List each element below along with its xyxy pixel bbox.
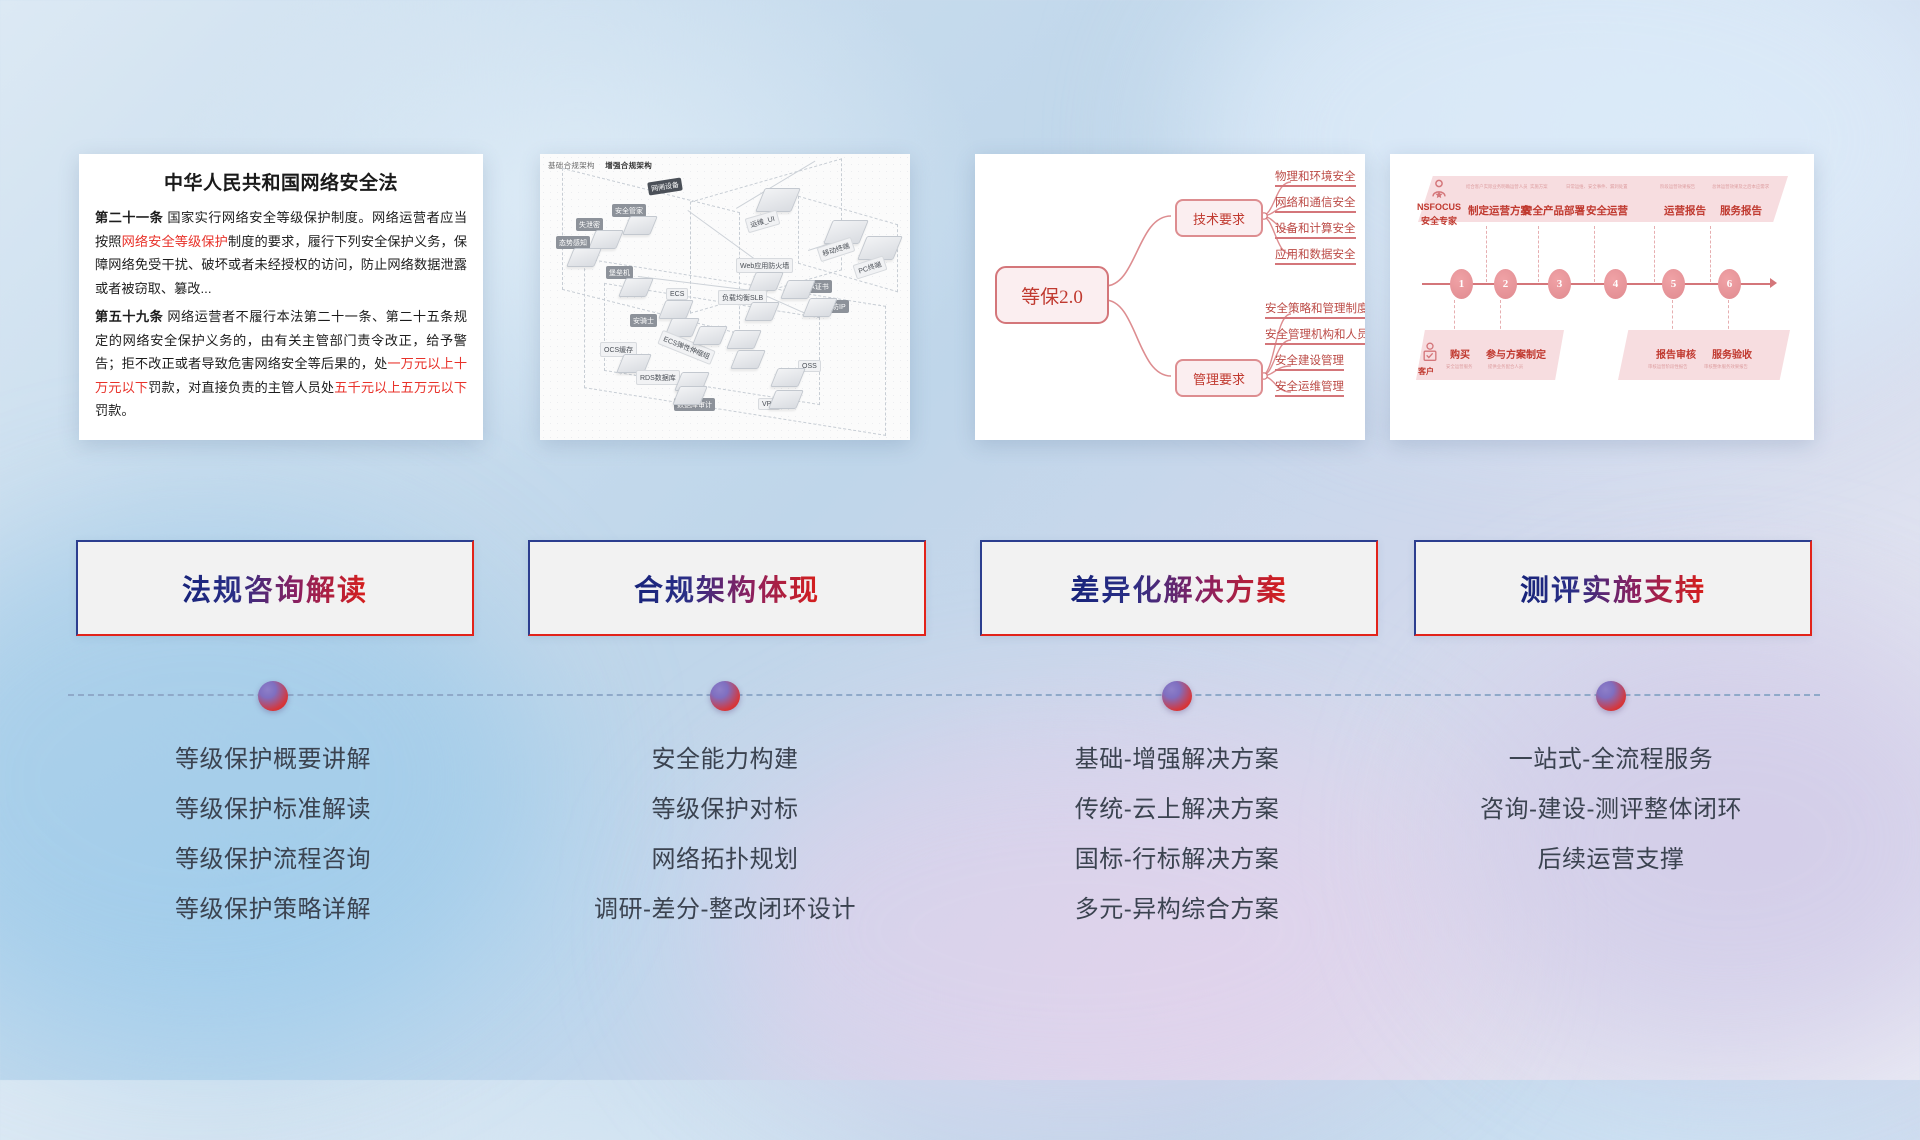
roadmap-step-number-3: 3 xyxy=(1548,269,1571,299)
bottom-step-2-sub: 提供业务配合人员 xyxy=(1488,364,1523,370)
list-item: 后续运营支撑 xyxy=(1414,835,1808,885)
pillar-title-2: 合规架构体现 xyxy=(634,567,820,609)
timeline-dashed-line xyxy=(68,694,1820,700)
tab-basic-architecture: 基础合规架构 xyxy=(548,161,595,170)
list-item: 等级保护对标 xyxy=(528,785,922,835)
article-59-highlight-2: 五千元以上五万元以下 xyxy=(334,380,467,395)
card-mindmap-dengbao: 等保2.0 技术要求 管理要求 物理和环境安全 网络和通信安全 设备和计算安全 … xyxy=(975,154,1365,440)
top-step-4-label: 运营报告 xyxy=(1664,203,1706,218)
list-item: 等级保护标准解读 xyxy=(76,785,470,835)
bottom-step-3-sub: 审核运营阶段性报告 xyxy=(1648,364,1688,370)
article-59-label: 第五十九条 xyxy=(95,309,163,324)
roadmap-step-number-6: 6 xyxy=(1718,269,1741,299)
expert-role-label: 安全专家 xyxy=(1421,214,1457,227)
pillar-title-4: 测评实施支持 xyxy=(1520,567,1706,609)
node-tag-rds: RDS数据库 xyxy=(636,370,680,385)
pillar-title-1: 法规咨询解读 xyxy=(182,567,368,609)
timeline-dot-1 xyxy=(258,681,288,711)
bottom-step-1-sub: 安全运营服务 xyxy=(1446,364,1472,370)
connector-dash-5 xyxy=(1710,226,1712,282)
mindmap-leaf-device-compute: 设备和计算安全 xyxy=(1275,220,1356,239)
connector-dash-1 xyxy=(1486,226,1488,282)
mindmap-root: 等保2.0 xyxy=(995,266,1109,324)
list-item: 调研-差分-整改闭环设计 xyxy=(528,885,922,935)
list-item: 等级保护概要讲解 xyxy=(76,735,470,785)
screenshot-card-row: 中华人民共和国网络安全法 第二十一条 国家实行网络安全等级保护制度。网络运营者应… xyxy=(0,0,1920,460)
mindmap-leaf-org-personnel: 安全管理机构和人员 xyxy=(1265,326,1365,345)
connector-dash-9 xyxy=(1728,300,1730,334)
detail-list-1: 等级保护概要讲解 等级保护标准解读 等级保护流程咨询 等级保护策略详解 xyxy=(76,735,470,935)
customer-role-label: 客户 xyxy=(1418,366,1434,377)
roadmap-customer-band-right xyxy=(1618,330,1790,380)
mindmap: 等保2.0 技术要求 管理要求 物理和环境安全 网络和通信安全 设备和计算安全 … xyxy=(975,154,1365,440)
mindmap-branch-management: 管理要求 xyxy=(1175,359,1263,397)
list-item: 咨询-建设-测评整体闭环 xyxy=(1414,785,1808,835)
pillar-box-regulation-consulting[interactable]: 法规咨询解读 xyxy=(76,540,474,636)
connector-dash-8 xyxy=(1672,300,1674,334)
expert-brand-label: NSFOCUS xyxy=(1417,202,1461,212)
article-21-highlight: 网络安全等级保护 xyxy=(122,234,228,249)
top-step-2-sub: 实施方案 xyxy=(1530,184,1548,190)
roadmap-step-number-4: 4 xyxy=(1604,269,1627,299)
detail-list-4: 一站式-全流程服务 咨询-建设-测评整体闭环 后续运营支撑 xyxy=(1414,735,1808,885)
list-item: 一站式-全流程服务 xyxy=(1414,735,1808,785)
list-item: 等级保护流程咨询 xyxy=(76,835,470,885)
pillar-title-row: 法规咨询解读 合规架构体现 差异化解决方案 测评实施支持 xyxy=(0,540,1920,650)
mindmap-leaf-network-comm: 网络和通信安全 xyxy=(1275,194,1356,213)
top-step-1-sub: 结合客户实际业务明确运营人员 xyxy=(1466,184,1527,190)
node-tag-waf: Web应用防火墙 xyxy=(736,258,793,273)
connector-dash-3 xyxy=(1594,226,1596,282)
mindmap-leaf-construction: 安全建设管理 xyxy=(1275,352,1344,371)
law-title: 中华人民共和国网络安全法 xyxy=(95,168,467,195)
law-article-59: 第五十九条 网络运营者不履行本法第二十一条、第二十五条规定的网络安全保护义务的，… xyxy=(95,305,467,423)
card-compliance-architecture: 基础合规架构 增强合规架构 网闸设备 安全管家 失泄密 态势感知 堡垒机 运维_ xyxy=(540,154,910,440)
mindmap-leaf-policy-system: 安全策略和管理制度 xyxy=(1265,300,1365,319)
list-item: 基础-增强解决方案 xyxy=(980,735,1374,785)
top-step-3-sub: 日常运维、安全事件、漏洞处置 xyxy=(1566,184,1627,190)
roadmap-step-number-5: 5 xyxy=(1662,269,1685,299)
connector-dash-4 xyxy=(1654,226,1656,282)
connector-dash-2 xyxy=(1538,226,1540,282)
bottom-step-4-sub: 审核整体服务效果报告 xyxy=(1704,364,1748,370)
card-service-roadmap: NSFOCUS 安全专家 结合客户实际业务明确运营人员 制定运营方案 实施方案 … xyxy=(1390,154,1814,440)
law-document: 中华人民共和国网络安全法 第二十一条 国家实行网络安全等级保护制度。网络运营者应… xyxy=(79,154,483,440)
architecture-diagram: 基础合规架构 增强合规架构 网闸设备 安全管家 失泄密 态势感知 堡垒机 运维_ xyxy=(540,154,910,440)
roadmap-axis-arrow xyxy=(1770,278,1777,288)
list-item: 网络拓扑规划 xyxy=(528,835,922,885)
card-cybersecurity-law: 中华人民共和国网络安全法 第二十一条 国家实行网络安全等级保护制度。网络运营者应… xyxy=(79,154,483,440)
top-step-5-sub: 总体运营效果及之后本应需求 xyxy=(1712,184,1769,190)
article-59-post: 罚款。 xyxy=(95,403,135,418)
pillar-box-compliance-architecture[interactable]: 合规架构体现 xyxy=(528,540,926,636)
list-item: 等级保护策略详解 xyxy=(76,885,470,935)
top-step-2-label: 安全产品部署 xyxy=(1522,203,1585,218)
law-article-21: 第二十一条 国家实行网络安全等级保护制度。网络运营者应当按照网络安全等级保护制度… xyxy=(95,206,467,300)
mindmap-leaf-app-data: 应用和数据安全 xyxy=(1275,246,1356,265)
roadmap-step-number-1: 1 xyxy=(1450,269,1473,299)
node-tag-anqishi: 安骑士 xyxy=(630,314,657,327)
node-tag-ecs: ECS xyxy=(666,288,688,300)
article-21-label: 第二十一条 xyxy=(95,210,163,225)
list-item: 安全能力构建 xyxy=(528,735,922,785)
connector-dash-6 xyxy=(1454,300,1456,334)
customer-avatar-icon xyxy=(1420,340,1440,364)
expert-avatar-icon xyxy=(1428,178,1450,200)
list-item: 国标-行标解决方案 xyxy=(980,835,1374,885)
pillar-detail-lists: 等级保护概要讲解 等级保护标准解读 等级保护流程咨询 等级保护策略详解 安全能力… xyxy=(0,735,1920,985)
bottom-step-4-label: 服务验收 xyxy=(1712,346,1752,361)
article-59-mid: 罚款，对直接负责的主管人员处 xyxy=(148,380,334,395)
connector-dash-7 xyxy=(1500,300,1502,334)
list-item: 多元-异构综合方案 xyxy=(980,885,1374,935)
mindmap-branch-technical: 技术要求 xyxy=(1175,199,1263,237)
mindmap-leaf-physical-env: 物理和环境安全 xyxy=(1275,168,1356,187)
roadmap-step-number-2: 2 xyxy=(1494,269,1517,299)
mindmap-leaf-operations: 安全运维管理 xyxy=(1275,378,1344,397)
top-step-5-label: 服务报告 xyxy=(1720,203,1762,218)
timeline-dot-4 xyxy=(1596,681,1626,711)
detail-list-3: 基础-增强解决方案 传统-云上解决方案 国标-行标解决方案 多元-异构综合方案 xyxy=(980,735,1374,935)
pillar-box-differentiated-solution[interactable]: 差异化解决方案 xyxy=(980,540,1378,636)
bottom-step-1-label: 购买 xyxy=(1450,346,1470,361)
pillar-title-3: 差异化解决方案 xyxy=(1070,567,1287,609)
tab-enhanced-architecture: 增强合规架构 xyxy=(605,161,652,170)
top-step-4-sub: 阶段运营效果报告 xyxy=(1660,184,1695,190)
timeline-dot-3 xyxy=(1162,681,1192,711)
list-item: 传统-云上解决方案 xyxy=(980,785,1374,835)
pillar-box-evaluation-support[interactable]: 测评实施支持 xyxy=(1414,540,1812,636)
bottom-step-3-label: 报告审核 xyxy=(1656,346,1696,361)
roadmap: NSFOCUS 安全专家 结合客户实际业务明确运营人员 制定运营方案 实施方案 … xyxy=(1390,154,1814,440)
detail-list-2: 安全能力构建 等级保护对标 网络拓扑规划 调研-差分-整改闭环设计 xyxy=(528,735,922,935)
bottom-step-2-label: 参与方案制定 xyxy=(1486,346,1546,361)
timeline-dot-2 xyxy=(710,681,740,711)
top-step-3-label: 安全运营 xyxy=(1586,203,1628,218)
